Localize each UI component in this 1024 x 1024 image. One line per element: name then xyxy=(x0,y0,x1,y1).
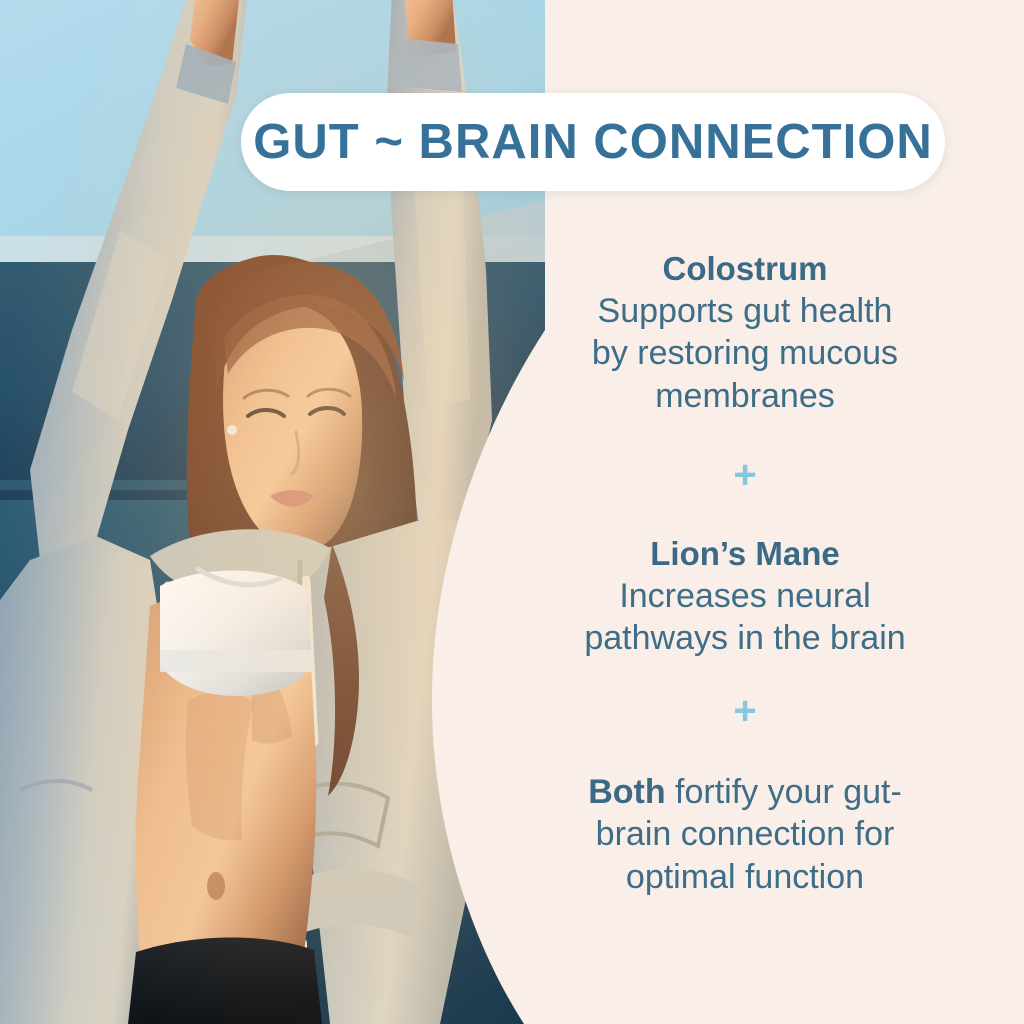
benefit-block-colostrum: Colostrum Supports gut health by restori… xyxy=(545,248,945,417)
benefit-lead-word: Both xyxy=(588,773,665,811)
benefit-block-both: Both fortify your gut- brain connection … xyxy=(545,771,945,897)
benefit-line: optimal function xyxy=(626,858,864,896)
title-pill: GUT ~ BRAIN CONNECTION xyxy=(241,93,945,191)
page-title: GUT ~ BRAIN CONNECTION xyxy=(253,118,932,167)
benefit-line: Increases neural xyxy=(619,577,870,615)
spacer xyxy=(545,659,945,691)
benefit-heading-colostrum: Colostrum xyxy=(545,248,945,290)
spacer xyxy=(545,417,945,455)
benefit-line: fortify your gut- xyxy=(666,773,902,811)
benefit-heading-lions-mane: Lion’s Mane xyxy=(545,533,945,575)
spacer xyxy=(545,731,945,771)
benefit-block-lions-mane: Lion’s Mane Increases neural pathways in… xyxy=(545,533,945,660)
benefit-line: Supports gut health xyxy=(598,292,893,330)
benefit-body-both: Both fortify your gut- brain connection … xyxy=(545,771,945,897)
plus-separator-icon: + xyxy=(545,455,945,495)
benefit-line: membranes xyxy=(655,377,835,415)
plus-separator-icon: + xyxy=(545,691,945,731)
benefits-list: Colostrum Supports gut health by restori… xyxy=(545,248,945,898)
spacer xyxy=(545,495,945,533)
infographic-canvas: GUT ~ BRAIN CONNECTION Colostrum Support… xyxy=(0,0,1024,1024)
benefit-body-colostrum: Supports gut health by restoring mucous … xyxy=(545,290,945,416)
benefit-body-lions-mane: Increases neural pathways in the brain xyxy=(545,575,945,659)
benefit-line: brain connection for xyxy=(596,815,895,853)
benefit-line: by restoring mucous xyxy=(592,334,898,372)
benefit-line: pathways in the brain xyxy=(584,619,905,657)
